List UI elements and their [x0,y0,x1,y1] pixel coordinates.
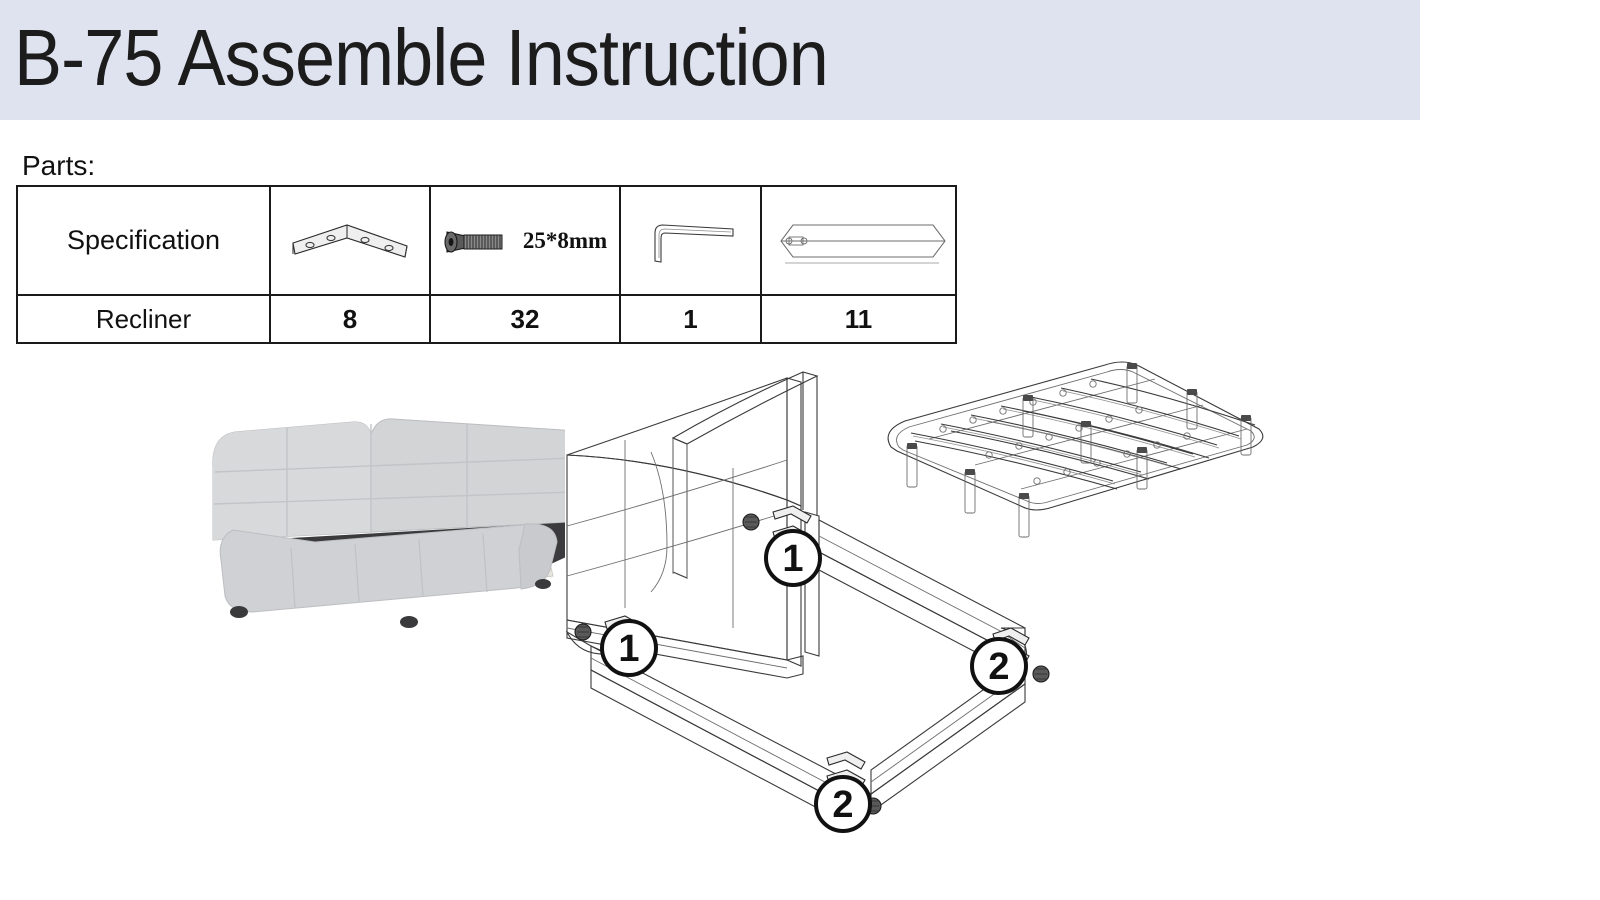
cell-hex-key-icon [620,186,761,295]
qty-angle-bracket: 8 [343,304,357,334]
callout-step-1-left: 1 [602,621,656,675]
parts-section-label: Parts: [22,150,95,182]
callout-step-2-bottom: 2 [816,777,870,831]
bolt-icon [443,224,515,258]
callout-step-1-right: 1 [766,531,820,585]
qty-bolt: 32 [511,304,540,334]
page-title: B-75 Assemble Instruction [14,14,828,102]
cell-qty-slat-rail: 11 [761,295,956,343]
cell-qty-angle-bracket: 8 [270,295,430,343]
cell-qty-hex-key: 1 [620,295,761,343]
cell-angle-bracket-icon [270,186,430,295]
bolt-size-label: 25*8mm [523,228,607,254]
svg-text:1: 1 [782,538,803,580]
slat-base-diagram [855,355,1275,555]
parts-table: Specification [16,185,957,344]
hex-key-icon [641,213,741,269]
specification-label: Specification [67,225,220,255]
upholstered-bed-photo [195,400,565,630]
slat-rail-icon [771,211,947,271]
cell-slat-rail-icon [761,186,956,295]
svg-text:2: 2 [832,784,853,826]
illustrations-area: 1 1 [0,350,1600,900]
row-label-recliner: Recliner [96,304,191,334]
table-row-specification: Specification [17,186,956,295]
svg-text:2: 2 [988,646,1009,688]
cell-row-name-recliner: Recliner [17,295,270,343]
qty-hex-key: 1 [683,304,697,334]
callout-step-2-right: 2 [972,639,1026,693]
angle-bracket-icon [285,213,415,269]
cell-qty-bolt: 32 [430,295,620,343]
svg-text:1: 1 [618,628,639,670]
qty-slat-rail: 11 [845,304,873,334]
cell-specification-header: Specification [17,186,270,295]
cell-bolt-icon: 25*8mm [430,186,620,295]
table-row-quantities: Recliner 8 32 1 11 [17,295,956,343]
